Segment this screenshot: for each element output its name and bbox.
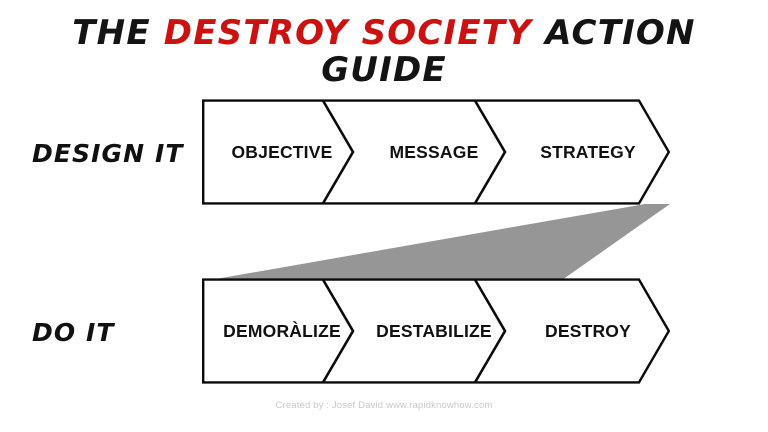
row-label-do-it: DO IT bbox=[32, 318, 115, 347]
footer-credit: Created by : Josef David www.rapidknowho… bbox=[0, 400, 768, 411]
title-word-action: ACTION bbox=[532, 13, 696, 53]
page-title: THE DESTROY SOCIETY ACTION GUIDE bbox=[0, 16, 768, 87]
title-word-destroy-society: DESTROY SOCIETY bbox=[164, 13, 532, 53]
title-line-2: GUIDE bbox=[0, 53, 768, 88]
chevron-row-do-it: DEMORÀLIZE DESTABILIZE DESTROY bbox=[202, 277, 670, 385]
chevron-step-objective[interactable]: OBJECTIVE bbox=[202, 98, 362, 206]
slide-canvas: THE DESTROY SOCIETY ACTION GUIDE DESIGN … bbox=[0, 0, 768, 432]
chevron-step-destabilize[interactable]: DESTABILIZE bbox=[354, 277, 514, 385]
chevron-row-design-it: OBJECTIVE MESSAGE STRATEGY bbox=[202, 98, 670, 206]
row-label-design-it: DESIGN IT bbox=[32, 139, 184, 168]
chevron-step-destroy[interactable]: DESTROY bbox=[506, 277, 670, 385]
chevron-step-message[interactable]: MESSAGE bbox=[354, 98, 514, 206]
title-line-1: THE DESTROY SOCIETY ACTION bbox=[0, 16, 768, 51]
chevron-step-strategy[interactable]: STRATEGY bbox=[506, 98, 670, 206]
title-word-the: THE bbox=[72, 13, 164, 53]
connector-shape bbox=[210, 204, 670, 280]
connector-band bbox=[202, 198, 670, 286]
chevron-step-demoralize[interactable]: DEMORÀLIZE bbox=[202, 277, 362, 385]
